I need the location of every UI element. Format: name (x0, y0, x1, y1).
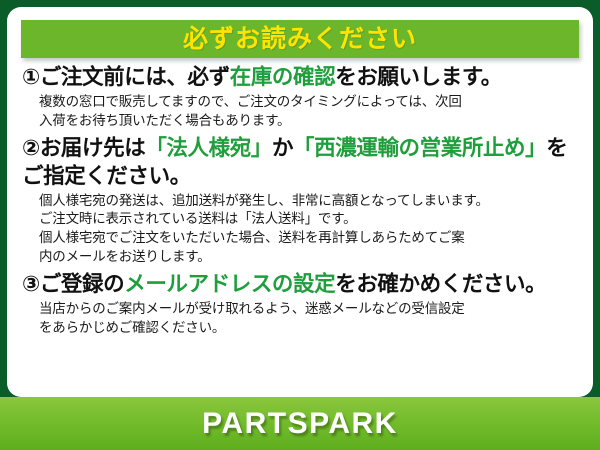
notice-item-body-line: 入荷をお待ち頂いただく場合もあります。 (39, 112, 578, 131)
heading-text: をお願いします。 (335, 65, 502, 89)
notice-panel: 必ずお読みください ①ご注文前には、必ず在庫の確認をお願いします。複数の窓口で販… (7, 7, 593, 397)
heading-highlight: 「法人様宛」 (145, 136, 272, 160)
notice-item-heading: ①ご注文前には、必ず在庫の確認をお願いします。 (22, 64, 578, 92)
heading-text: か (272, 136, 293, 160)
heading-highlight: 「西濃運輸の営業所止め」 (293, 136, 546, 160)
notice-item-body-line: ご注文時に表示されている送料は「法人送料」です。 (39, 210, 578, 229)
header-banner: 必ずお読みください (21, 20, 579, 58)
notice-item-body-line: 複数の窓口で販売してますので、ご注文のタイミングによっては、次回 (39, 93, 578, 112)
notice-items-list: ①ご注文前には、必ず在庫の確認をお願いします。複数の窓口で販売してますので、ご注… (18, 64, 582, 338)
notice-item-body-line: 個人様宅宛でご注文をいただいた場合、送料を再計算しあらためてご案 (39, 229, 578, 248)
heading-highlight: メールアドレスの設定 (124, 272, 335, 296)
notice-item-marker: ③ (22, 272, 40, 296)
notice-item-body-line: 内のメールをお送りします。 (39, 248, 578, 267)
notice-item: ①ご注文前には、必ず在庫の確認をお願いします。複数の窓口で販売してますので、ご注… (22, 64, 578, 131)
notice-item-marker: ② (22, 136, 40, 160)
heading-text: をお確かめください。 (335, 272, 546, 296)
notice-item-marker: ① (22, 65, 40, 89)
notice-item: ③ご登録のメールアドレスの設定をお確かめください。当店からのご案内メールが受け取… (22, 271, 578, 338)
notice-item-body: 個人様宅宛の発送は、追加送料が発生し、非常に高額となってしまいます。ご注文時に表… (22, 192, 578, 268)
notice-item-heading: ③ご登録のメールアドレスの設定をお確かめください。 (22, 271, 578, 299)
heading-text: ご注文前には、必ず (40, 65, 230, 89)
notice-item-body: 当店からのご案内メールが受け取れるよう、迷惑メールなどの受信設定をあらかじめご確… (22, 300, 578, 338)
header-title: 必ずお読みください (183, 27, 417, 52)
notice-frame: 必ずお読みください ①ご注文前には、必ず在庫の確認をお願いします。複数の窓口で販… (0, 0, 600, 450)
notice-item-body-line: をあらかじめご確認ください。 (39, 319, 578, 338)
notice-item-body-line: 当店からのご案内メールが受け取れるよう、迷惑メールなどの受信設定 (39, 300, 578, 319)
notice-item: ②お届け先は「法人様宛」か「西濃運輸の営業所止め」をご指定ください。個人様宅宛の… (22, 135, 578, 267)
notice-item-heading: ②お届け先は「法人様宛」か「西濃運輸の営業所止め」をご指定ください。 (22, 135, 578, 191)
footer-banner: PARTSPARK (0, 397, 600, 450)
heading-text: お届け先は (40, 136, 146, 160)
heading-text: ご登録の (40, 272, 124, 296)
brand-logo: PARTSPARK (202, 409, 398, 439)
notice-item-body-line: 個人様宅宛の発送は、追加送料が発生し、非常に高額となってしまいます。 (39, 192, 578, 211)
notice-item-body: 複数の窓口で販売してますので、ご注文のタイミングによっては、次回入荷をお待ち頂い… (22, 93, 578, 131)
heading-highlight: 在庫の確認 (230, 65, 336, 89)
